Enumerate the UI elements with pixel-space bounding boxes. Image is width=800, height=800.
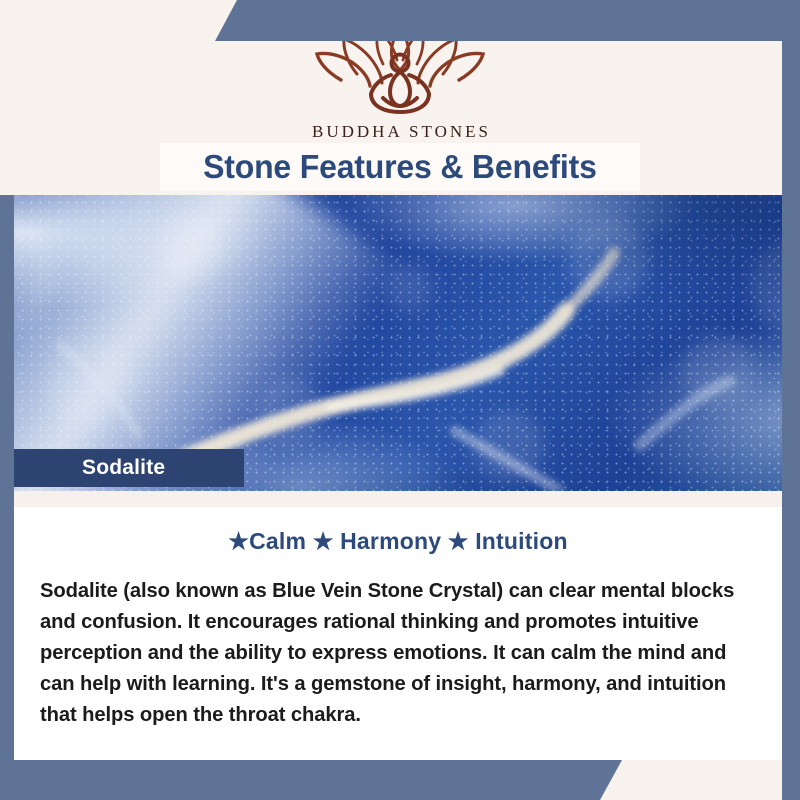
content-panel: ★Calm ★ Harmony ★ Intuition Sodalite (al…: [14, 507, 782, 760]
stone-photo: [0, 195, 782, 491]
frame-accent-top: [215, 0, 800, 41]
stone-label-bar: Sodalite: [14, 449, 244, 487]
frame-accent-right: [782, 41, 800, 800]
panel-top-strip: [14, 491, 782, 507]
keywords-line: ★Calm ★ Harmony ★ Intuition: [14, 528, 782, 555]
page-title: Stone Features & Benefits: [203, 148, 597, 186]
stone-label: Sodalite: [82, 456, 165, 480]
stone-description: Sodalite (also known as Blue Vein Stone …: [40, 575, 745, 730]
stone-photo-shade: [0, 195, 782, 491]
frame-accent-left: [0, 195, 14, 800]
infographic-card: BUDDHA STONES Stone Features & Benefits …: [0, 0, 800, 800]
page-title-banner: Stone Features & Benefits: [160, 143, 640, 191]
brand-name: BUDDHA STONES: [309, 122, 491, 142]
frame-accent-bottom: [0, 760, 622, 800]
